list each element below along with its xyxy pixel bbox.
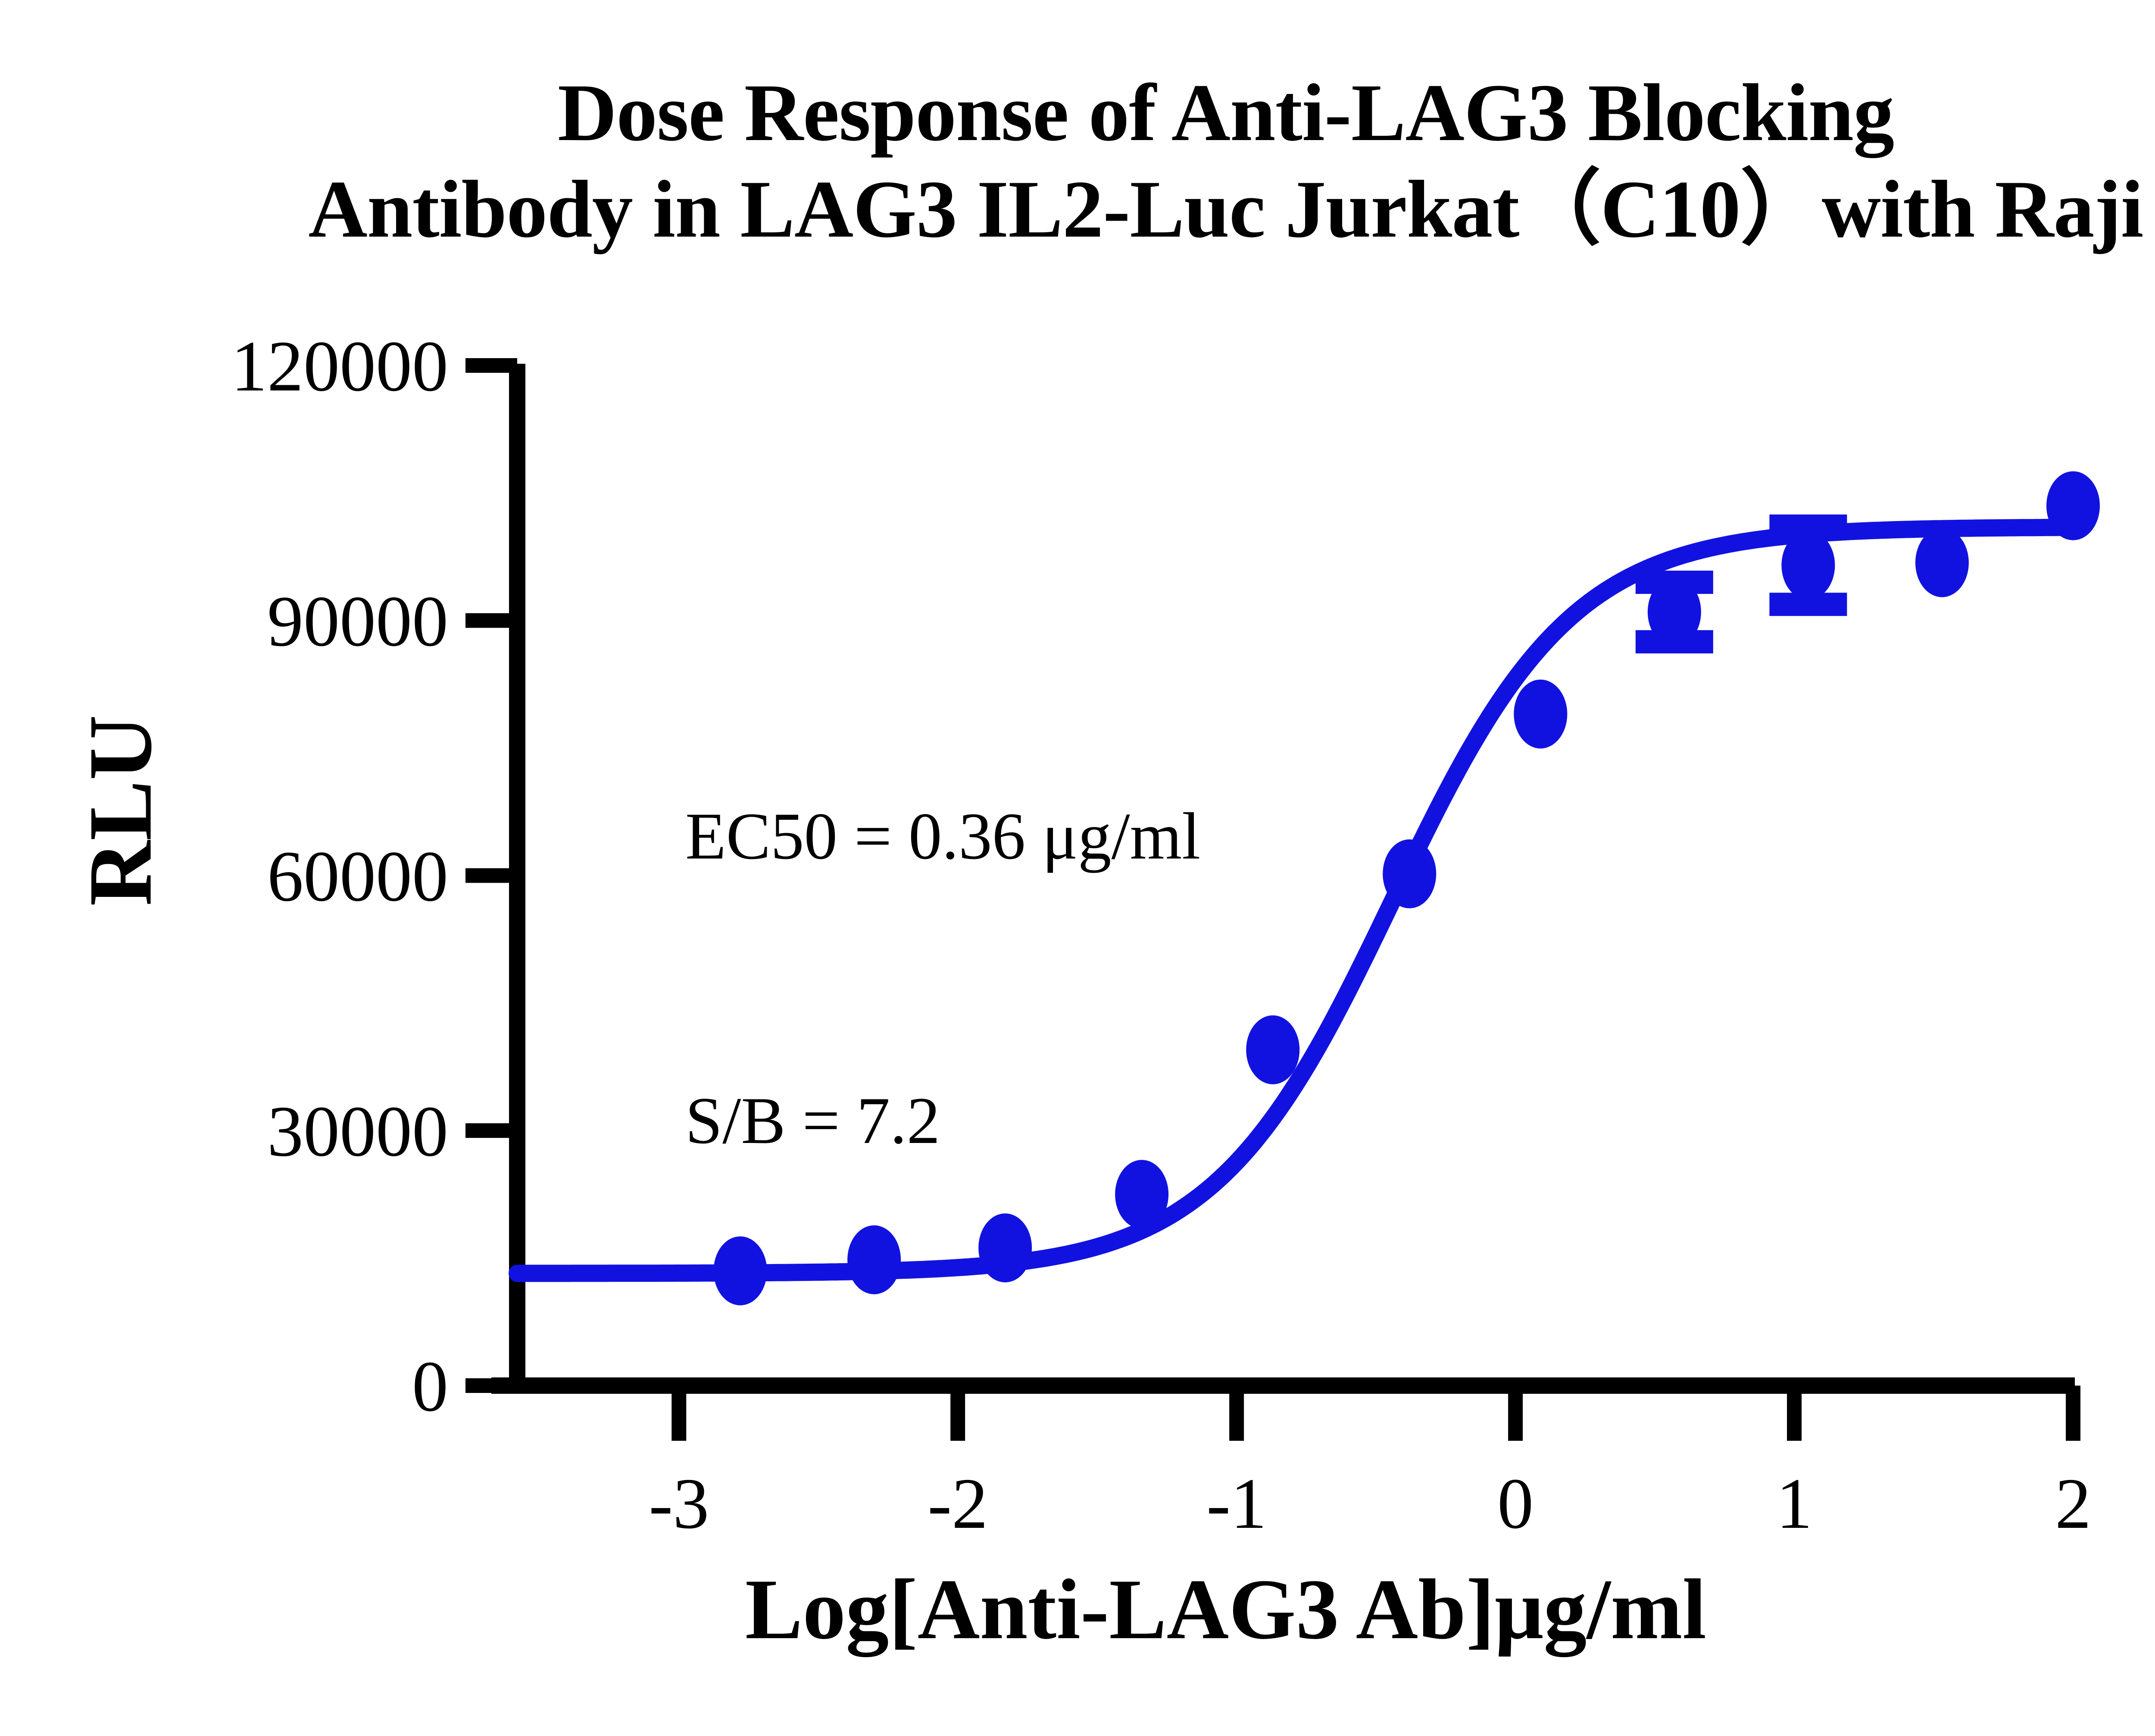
data-point xyxy=(1648,578,1701,646)
data-point xyxy=(2046,471,2100,540)
data-point xyxy=(1915,528,1969,597)
data-point xyxy=(1246,1015,1299,1084)
plot-area: 0300006000090000120000 -3-2-1012 xyxy=(0,0,2155,1736)
y-tick-label-group: 0300006000090000120000 xyxy=(231,326,448,1427)
x-tick-label: 0 xyxy=(1497,1464,1533,1544)
y-tick-label: 60000 xyxy=(267,837,448,917)
data-point xyxy=(1383,840,1436,909)
fit-curve-group xyxy=(517,528,2073,1274)
x-tick-label: 1 xyxy=(1776,1464,1812,1544)
data-point xyxy=(1781,531,1835,600)
data-point xyxy=(978,1213,1032,1282)
sigmoid-fit-line xyxy=(517,528,2073,1274)
data-point-group xyxy=(714,471,2100,1305)
x-tick-label: -1 xyxy=(1206,1464,1267,1544)
x-tick-label: -3 xyxy=(649,1464,709,1544)
y-tick-label: 120000 xyxy=(231,326,448,406)
data-point xyxy=(1115,1160,1168,1229)
x-tick-label-group: -3-2-1012 xyxy=(649,1464,2091,1544)
y-tick-label: 0 xyxy=(412,1346,448,1427)
data-point xyxy=(847,1225,901,1294)
y-tick-label: 30000 xyxy=(267,1091,448,1171)
x-tick-label: 2 xyxy=(2055,1464,2091,1544)
y-tick-label: 90000 xyxy=(267,581,448,662)
data-point xyxy=(714,1236,767,1305)
chart-root: Dose Response of Anti-LAG3 Blocking Anti… xyxy=(0,0,2155,1736)
data-point xyxy=(1514,680,1567,749)
x-tick-label: -2 xyxy=(928,1464,988,1544)
